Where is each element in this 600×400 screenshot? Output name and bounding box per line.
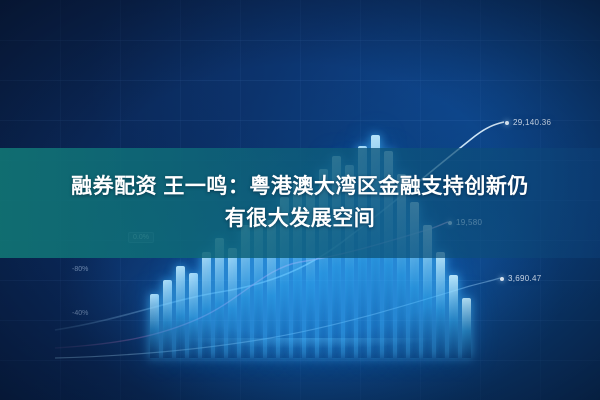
news-banner-image: 29,140.36 19,580 3,690.47 -40% -80% 0.0%… [0, 0, 600, 400]
headline-container: 融券配资 王一鸣：粤港澳大湾区金融支持创新仍 有很大发展空间 [0, 148, 600, 258]
headline-line-2: 有很大发展空间 [20, 203, 580, 235]
headline-line-1: 融券配资 王一鸣：粤港澳大湾区金融支持创新仍 [20, 171, 580, 203]
